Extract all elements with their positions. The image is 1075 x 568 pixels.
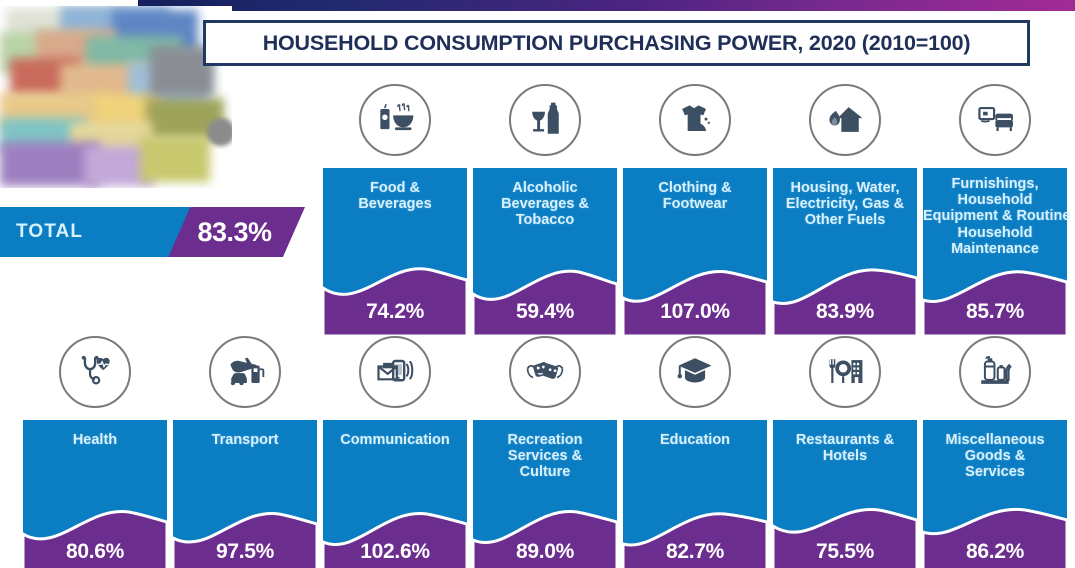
category-label: Restaurants &Hotels xyxy=(773,420,917,464)
page-title-text: HOUSEHOLD CONSUMPTION PURCHASING POWER, … xyxy=(263,31,971,56)
category-label: RecreationServices &Culture xyxy=(473,420,617,481)
miscellaneous-goods-icon xyxy=(959,336,1031,408)
card-body: Restaurants &Hotels 75.5% xyxy=(773,420,917,568)
page-title: HOUSEHOLD CONSUMPTION PURCHASING POWER, … xyxy=(203,20,1030,66)
total-badge: TOTAL 83.3% xyxy=(0,207,305,257)
category-card[interactable]: Restaurants &Hotels 75.5% xyxy=(773,336,917,568)
category-label: Education xyxy=(623,420,767,448)
card-body: Food &Beverages 74.2% xyxy=(323,168,467,336)
category-card[interactable]: Food &Beverages 74.2% xyxy=(323,84,467,336)
category-label: Health xyxy=(23,420,167,448)
category-label: Clothing &Footwear xyxy=(623,168,767,212)
category-value: 74.2% xyxy=(323,300,467,324)
restaurants-hotels-icon xyxy=(809,336,881,408)
category-label: Transport xyxy=(173,420,317,448)
card-body: MiscellaneousGoods &Services 86.2% xyxy=(923,420,1067,568)
alcohol-tobacco-icon xyxy=(509,84,581,156)
category-value: 59.4% xyxy=(473,300,617,324)
banknotes-photo xyxy=(0,6,232,188)
card-body: Furnishings,HouseholdEquipment & Routine… xyxy=(923,168,1067,336)
card-body: AlcoholicBeverages &Tobacco 59.4% xyxy=(473,168,617,336)
category-value: 75.5% xyxy=(773,540,917,564)
clothing-footwear-icon xyxy=(659,84,731,156)
category-value: 102.6% xyxy=(323,540,467,564)
card-body: Communication 102.6% xyxy=(323,420,467,568)
category-card[interactable]: Clothing &Footwear 107.0% xyxy=(623,84,767,336)
total-value: 83.3% xyxy=(197,217,271,248)
category-value: 82.7% xyxy=(623,540,767,564)
category-card[interactable]: MiscellaneousGoods &Services 86.2% xyxy=(923,336,1067,568)
food-beverages-icon xyxy=(359,84,431,156)
category-label: Furnishings,HouseholdEquipment & Routine… xyxy=(923,168,1067,257)
category-card[interactable]: AlcoholicBeverages &Tobacco 59.4% xyxy=(473,84,617,336)
category-label: Food &Beverages xyxy=(323,168,467,212)
category-label: AlcoholicBeverages &Tobacco xyxy=(473,168,617,229)
transport-icon xyxy=(209,336,281,408)
category-card[interactable]: Furnishings,HouseholdEquipment & Routine… xyxy=(923,84,1067,336)
top-gradient-strip xyxy=(138,0,1075,11)
coin-icon xyxy=(207,118,232,146)
category-label: Communication xyxy=(323,420,467,448)
category-card[interactable]: Communication 102.6% xyxy=(323,336,467,568)
recreation-culture-icon xyxy=(509,336,581,408)
housing-utilities-icon xyxy=(809,84,881,156)
category-card[interactable]: Housing, Water,Electricity, Gas &Other F… xyxy=(773,84,917,336)
category-value: 97.5% xyxy=(173,540,317,564)
furnishings-icon xyxy=(959,84,1031,156)
category-card[interactable]: RecreationServices &Culture 89.0% xyxy=(473,336,617,568)
card-body: Education 82.7% xyxy=(623,420,767,568)
category-value: 107.0% xyxy=(623,300,767,324)
card-body: RecreationServices &Culture 89.0% xyxy=(473,420,617,568)
category-label: Housing, Water,Electricity, Gas &Other F… xyxy=(773,168,917,229)
infographic-page: HOUSEHOLD CONSUMPTION PURCHASING POWER, … xyxy=(0,0,1075,568)
category-value: 86.2% xyxy=(923,540,1067,564)
category-label: MiscellaneousGoods &Services xyxy=(923,420,1067,481)
health-icon xyxy=(59,336,131,408)
category-value: 83.9% xyxy=(773,300,917,324)
education-icon xyxy=(659,336,731,408)
category-value: 89.0% xyxy=(473,540,617,564)
communication-icon xyxy=(359,336,431,408)
card-body: Clothing &Footwear 107.0% xyxy=(623,168,767,336)
total-badge-blue: TOTAL xyxy=(0,207,190,257)
category-card[interactable]: Transport 97.5% xyxy=(173,336,317,568)
card-body: Housing, Water,Electricity, Gas &Other F… xyxy=(773,168,917,336)
total-label: TOTAL xyxy=(0,221,83,243)
category-value: 85.7% xyxy=(923,300,1067,324)
card-body: Transport 97.5% xyxy=(173,420,317,568)
card-body: Health 80.6% xyxy=(23,420,167,568)
category-card[interactable]: Education 82.7% xyxy=(623,336,767,568)
category-card[interactable]: Health 80.6% xyxy=(23,336,167,568)
category-value: 80.6% xyxy=(23,540,167,564)
